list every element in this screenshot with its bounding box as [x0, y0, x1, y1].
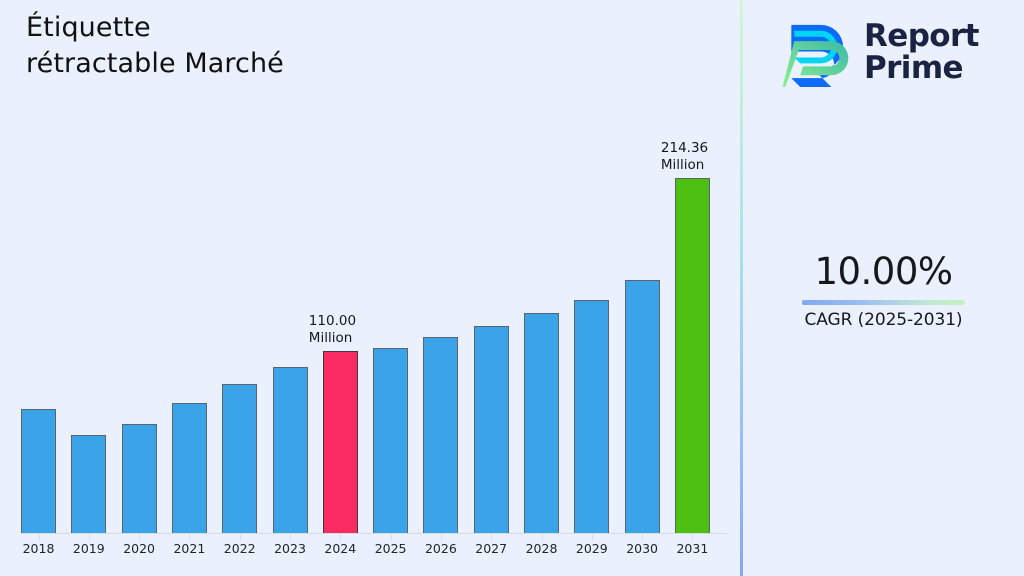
cagr-value: 10.00%	[743, 252, 1024, 293]
x-tick-2021	[189, 534, 190, 540]
bar-2027[interactable]	[474, 326, 509, 533]
x-axis-label-2027: 2027	[464, 541, 518, 556]
x-tick-2030	[642, 534, 643, 540]
x-tick-2026	[441, 534, 442, 540]
value-label-2024: 110.00 Million	[309, 313, 356, 348]
x-axis-label-2022: 2022	[213, 541, 267, 556]
x-axis-label-2023: 2023	[263, 541, 317, 556]
bar-2021[interactable]	[172, 403, 207, 533]
bar-chart: 2018201920202021202220232024202520262027…	[0, 0, 740, 576]
x-axis-label-2025: 2025	[364, 541, 418, 556]
x-axis-label-2019: 2019	[62, 541, 116, 556]
x-axis-label-2024: 2024	[313, 541, 367, 556]
x-tick-2028	[542, 534, 543, 540]
x-tick-2019	[89, 534, 90, 540]
x-axis-label-2026: 2026	[414, 541, 468, 556]
x-axis-label-2029: 2029	[565, 541, 619, 556]
x-tick-2020	[139, 534, 140, 540]
x-tick-2024	[340, 534, 341, 540]
bar-2025[interactable]	[373, 348, 408, 533]
bar-2028[interactable]	[524, 313, 559, 533]
chart-infographic: Étiquette rétractable Marché 20182019202…	[0, 0, 1024, 576]
x-axis-label-2021: 2021	[162, 541, 216, 556]
brand-wordmark: Report Prime	[864, 21, 979, 84]
report-prime-logo-icon	[778, 16, 852, 90]
bar-2031[interactable]	[675, 178, 710, 533]
x-tick-2022	[240, 534, 241, 540]
cagr-divider-rule	[802, 300, 965, 305]
bar-2026[interactable]	[423, 337, 458, 533]
brand-logo: Report Prime	[778, 12, 1018, 94]
x-tick-2029	[592, 534, 593, 540]
cagr-block: 10.00% CAGR (2025-2031)	[743, 252, 1024, 330]
x-tick-2027	[491, 534, 492, 540]
bar-2029[interactable]	[574, 300, 609, 533]
chart-panel: Étiquette rétractable Marché 20182019202…	[0, 0, 740, 576]
x-tick-2025	[391, 534, 392, 540]
bar-2023[interactable]	[273, 367, 308, 533]
bar-2020[interactable]	[122, 424, 157, 533]
summary-panel: Report Prime 10.00% CAGR (2025-2031)	[743, 0, 1024, 576]
value-label-2031: 214.36 Million	[661, 140, 708, 175]
x-axis-label-2031: 2031	[665, 541, 719, 556]
x-tick-2031	[692, 534, 693, 540]
x-tick-2018	[39, 534, 40, 540]
bar-2024[interactable]	[323, 351, 358, 533]
x-axis-label-2020: 2020	[112, 541, 166, 556]
x-axis-line	[21, 533, 727, 534]
x-axis-label-2028: 2028	[515, 541, 569, 556]
cagr-caption: CAGR (2025-2031)	[743, 310, 1024, 330]
x-axis-label-2030: 2030	[615, 541, 669, 556]
x-tick-2023	[290, 534, 291, 540]
bar-2018[interactable]	[21, 409, 56, 533]
bar-2019[interactable]	[71, 435, 106, 533]
bar-2022[interactable]	[222, 384, 257, 533]
bar-2030[interactable]	[625, 280, 660, 533]
x-axis-label-2018: 2018	[12, 541, 66, 556]
